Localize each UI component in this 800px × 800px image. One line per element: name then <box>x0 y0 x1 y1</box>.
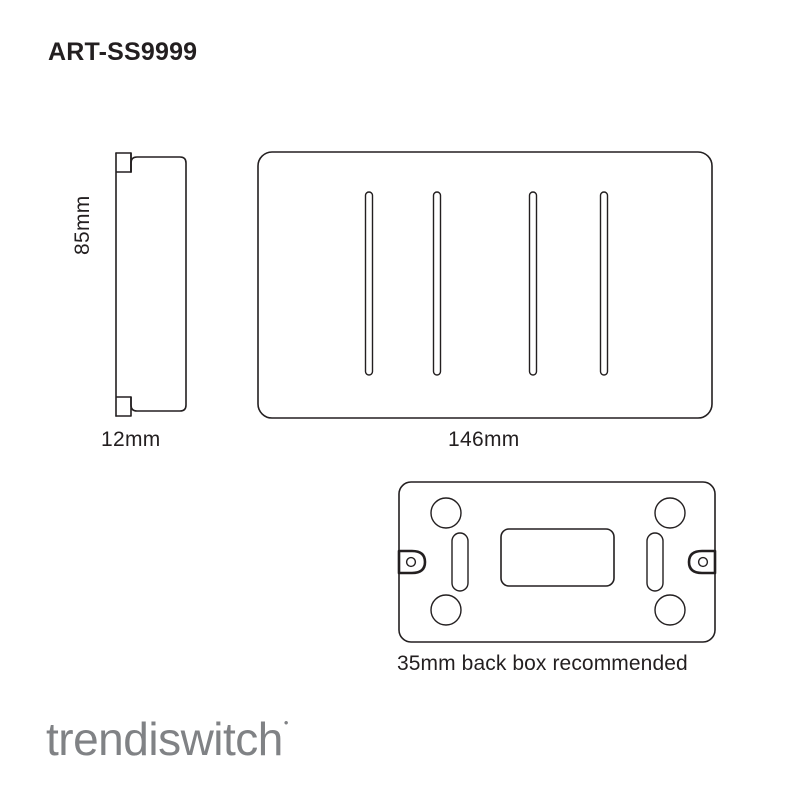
dimension-label-height: 85mm <box>71 195 95 255</box>
fixing-lug-right-body <box>689 551 715 573</box>
back-box-outline <box>399 482 715 642</box>
fixing-lug-right-hole <box>699 558 708 567</box>
side-profile-front-lip <box>116 153 131 416</box>
screw-hole-top-right <box>655 498 685 528</box>
screw-hole-bottom-left <box>431 595 461 625</box>
rocker-slot-group <box>366 192 608 375</box>
dimension-label-depth: 12mm <box>101 428 161 452</box>
drawing-sheet: ART-SS9999 <box>0 0 800 800</box>
adjustment-slot-left <box>452 533 468 591</box>
back-box-view <box>399 482 715 642</box>
brand-logo-text: trendiswitch <box>46 713 283 765</box>
screw-hole-top-left <box>431 498 461 528</box>
rocker-slot-4 <box>601 192 608 375</box>
fixing-lug-left <box>399 551 425 573</box>
rocker-slot-3 <box>530 192 537 375</box>
adjustment-slot-group <box>452 533 663 591</box>
back-box-aperture <box>501 529 614 586</box>
back-box-caption: 35mm back box recommended <box>397 652 688 676</box>
fixing-lug-right <box>689 551 715 573</box>
side-profile-view <box>116 153 186 416</box>
screw-hole-bottom-right <box>655 595 685 625</box>
brand-registered-mark-icon: • <box>284 715 288 730</box>
side-profile-outline <box>116 153 186 416</box>
fixing-lug-left-body <box>399 551 425 573</box>
front-plate-view <box>258 152 712 418</box>
front-plate-outline <box>258 152 712 418</box>
dimension-label-width: 146mm <box>448 428 520 452</box>
technical-drawing-svg <box>0 0 800 800</box>
adjustment-slot-right <box>647 533 663 591</box>
rocker-slot-2 <box>434 192 441 375</box>
rocker-slot-1 <box>366 192 373 375</box>
brand-logo: trendiswitch• <box>46 716 287 762</box>
fixing-lug-left-hole <box>407 558 416 567</box>
